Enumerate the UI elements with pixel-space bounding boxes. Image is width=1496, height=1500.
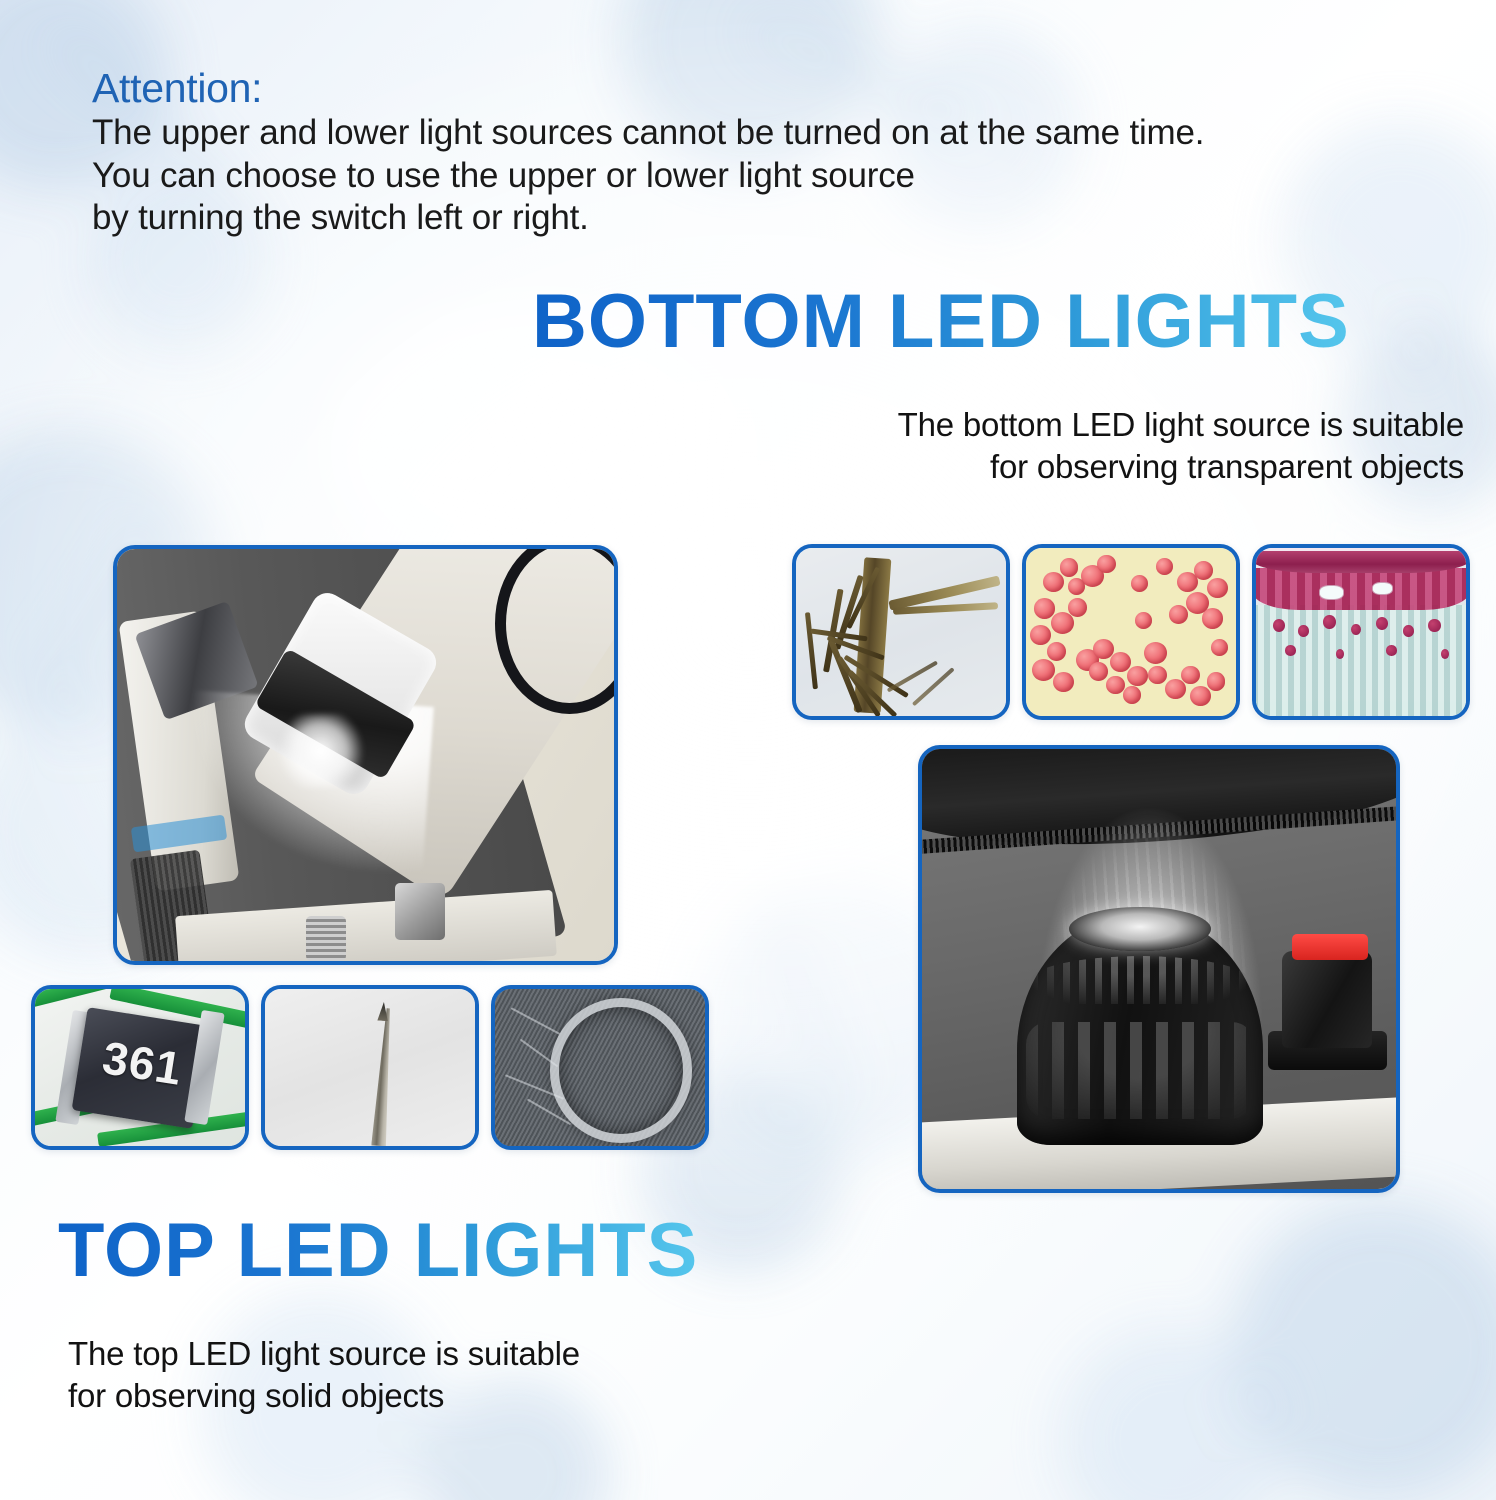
thumbnail-metal-coin bbox=[491, 985, 709, 1150]
thumbnail-blood-cells bbox=[1022, 544, 1240, 720]
bottom-led-photo-content bbox=[922, 749, 1396, 1189]
heading-top-led-lights: TOP LED LIGHTS bbox=[58, 1213, 698, 1289]
top-led-photo-content bbox=[117, 549, 614, 961]
description-top-led: The top LED light source is suitable for… bbox=[68, 1333, 580, 1417]
infographic-page: Attention: The upper and lower light sou… bbox=[0, 0, 1496, 1500]
attention-block: Attention: The upper and lower light sou… bbox=[92, 66, 1432, 240]
description-top-led-line1: The top LED light source is suitable bbox=[68, 1333, 580, 1375]
description-bottom-led: The bottom LED light source is suitable … bbox=[748, 404, 1464, 488]
attention-title: Attention: bbox=[92, 66, 1432, 112]
photo-bottom-led-illuminator bbox=[918, 745, 1400, 1193]
attention-line-3: by turning the switch left or right. bbox=[92, 197, 1432, 240]
description-bottom-led-line2: for observing transparent objects bbox=[748, 446, 1464, 488]
description-bottom-led-line1: The bottom LED light source is suitable bbox=[748, 404, 1464, 446]
attention-line-1: The upper and lower light sources cannot… bbox=[92, 112, 1432, 155]
thumbnail-plant-bristles bbox=[792, 544, 1010, 720]
photo-top-led-lamp bbox=[113, 545, 618, 965]
thumbnail-plant-cross-section bbox=[1252, 544, 1470, 720]
heading-bottom-led-lights: BOTTOM LED LIGHTS bbox=[532, 284, 1350, 360]
red-power-knob bbox=[1292, 934, 1368, 960]
thumbnail-smd-resistor: 361 bbox=[31, 985, 249, 1150]
attention-line-2: You can choose to use the upper or lower… bbox=[92, 155, 1432, 198]
description-top-led-line2: for observing solid objects bbox=[68, 1375, 580, 1417]
thumbnail-needle-tip bbox=[261, 985, 479, 1150]
